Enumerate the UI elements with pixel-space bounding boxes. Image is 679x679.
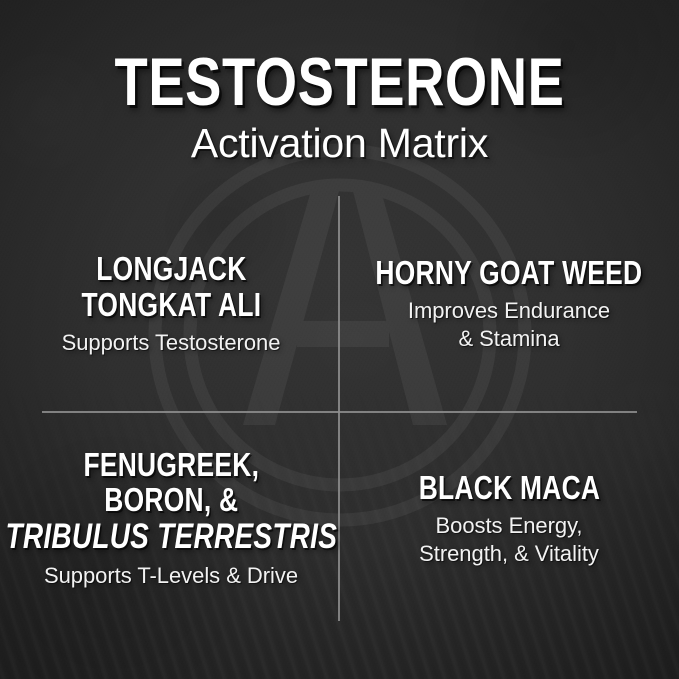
quadrant-heading-line-italic: TRIBULUS TERRESTRIS (5, 518, 337, 555)
quadrant-body-line: & Stamina (408, 325, 610, 353)
quadrant-body-line: Supports Testosterone (62, 329, 281, 357)
quadrant-heading: BLACK MACA (418, 470, 600, 505)
quadrant-heading: FENUGREEK, BORON, & TRIBULUS TERRESTRIS (5, 447, 337, 555)
quadrant-heading-line: BORON, & (5, 482, 337, 517)
quadrant-body: Supports T-Levels & Drive (44, 562, 298, 590)
quadrant-body: Supports Testosterone (62, 329, 281, 357)
quadrant-top-right: HORNY GOAT WEED Improves Endurance & Sta… (342, 200, 676, 408)
quadrant-bottom-right: BLACK MACA Boosts Energy, Strength, & Vi… (342, 416, 676, 621)
title-block: TESTOSTERONE Activation Matrix (0, 48, 679, 167)
quadrant-bottom-left: FENUGREEK, BORON, & TRIBULUS TERRESTRIS … (6, 416, 336, 621)
quadrant-body-line: Supports T-Levels & Drive (44, 562, 298, 590)
quadrant-top-left: LONGJACK TONGKAT ALI Supports Testostero… (6, 200, 336, 408)
quadrant-body-line: Strength, & Vitality (419, 540, 599, 568)
quadrant-heading-line: LONGJACK (81, 251, 261, 286)
testosterone-activation-matrix-poster: TESTOSTERONE Activation Matrix LONGJACK … (0, 0, 679, 679)
quadrant-heading-line: TONGKAT ALI (81, 287, 261, 322)
page-title: TESTOSTERONE (68, 48, 611, 117)
quadrant-heading: HORNY GOAT WEED (376, 255, 643, 290)
quadrant-body: Improves Endurance & Stamina (408, 297, 610, 352)
quadrant-body-line: Boosts Energy, (419, 512, 599, 540)
poster-content: TESTOSTERONE Activation Matrix LONGJACK … (0, 0, 679, 679)
quadrant-heading-line: FENUGREEK, (5, 447, 337, 482)
quadrant-body: Boosts Energy, Strength, & Vitality (419, 512, 599, 567)
quadrant-heading: LONGJACK TONGKAT ALI (81, 251, 261, 322)
vertical-divider (338, 196, 340, 621)
page-subtitle: Activation Matrix (0, 121, 679, 167)
quadrant-heading-line: BLACK MACA (418, 470, 600, 505)
quadrant-heading-line: HORNY GOAT WEED (376, 255, 643, 290)
quadrant-body-line: Improves Endurance (408, 297, 610, 325)
